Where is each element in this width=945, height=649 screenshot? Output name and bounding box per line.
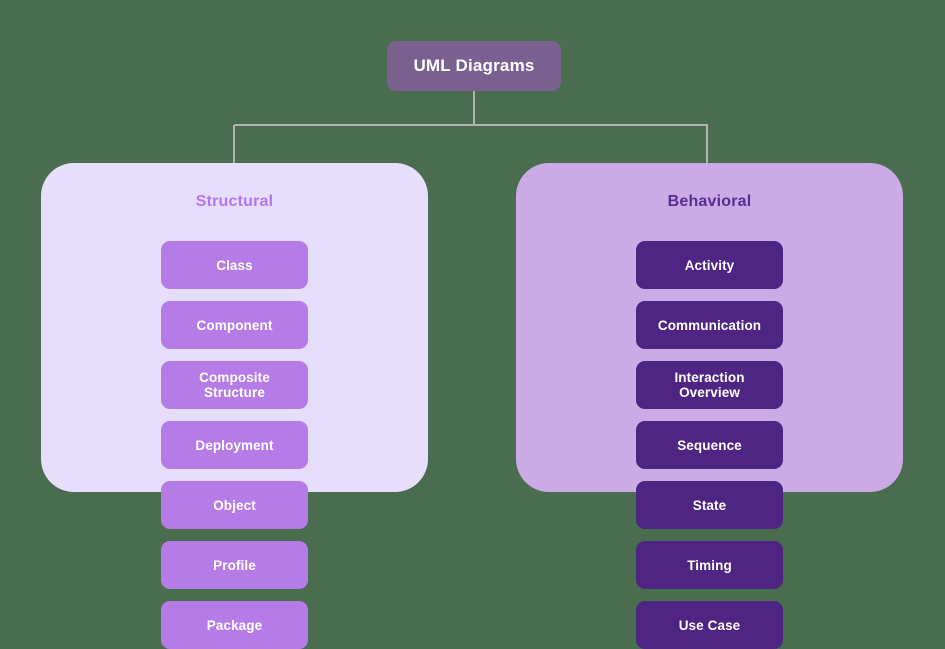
chip-label-composite-structure: Composite Structure bbox=[199, 370, 270, 400]
chip-label-use-case: Use Case bbox=[679, 618, 741, 633]
category-panel-structural[interactable]: Structural Class Component Composite Str… bbox=[41, 163, 428, 492]
chip-timing[interactable]: Timing bbox=[636, 541, 783, 589]
chip-label-interaction-overview: Interaction Overview bbox=[674, 370, 744, 400]
root-node-label: UML Diagrams bbox=[413, 56, 534, 76]
chip-label-class: Class bbox=[216, 258, 253, 273]
chip-state[interactable]: State bbox=[636, 481, 783, 529]
chip-label-timing: Timing bbox=[687, 558, 732, 573]
chip-label-deployment: Deployment bbox=[195, 438, 273, 453]
chip-composite-structure[interactable]: Composite Structure bbox=[161, 361, 308, 409]
root-node-uml-diagrams[interactable]: UML Diagrams bbox=[387, 41, 561, 91]
chip-label-state: State bbox=[693, 498, 727, 513]
chip-label-communication: Communication bbox=[658, 318, 761, 333]
chip-package[interactable]: Package bbox=[161, 601, 308, 649]
chip-label-package: Package bbox=[207, 618, 263, 633]
chip-label-line1: Composite bbox=[199, 370, 270, 385]
chip-grid-structural: Class Component Composite Structure Depl… bbox=[81, 241, 388, 649]
chip-label-component: Component bbox=[197, 318, 273, 333]
chip-label-line2: Overview bbox=[679, 385, 740, 400]
chip-profile[interactable]: Profile bbox=[161, 541, 308, 589]
chip-communication[interactable]: Communication bbox=[636, 301, 783, 349]
chip-class[interactable]: Class bbox=[161, 241, 308, 289]
category-panel-behavioral[interactable]: Behavioral Activity Communication Intera… bbox=[516, 163, 903, 492]
chip-interaction-overview[interactable]: Interaction Overview bbox=[636, 361, 783, 409]
chip-grid-behavioral: Activity Communication Interaction Overv… bbox=[556, 241, 863, 649]
chip-activity[interactable]: Activity bbox=[636, 241, 783, 289]
chip-label-object: Object bbox=[213, 498, 256, 513]
chip-label-profile: Profile bbox=[213, 558, 256, 573]
chip-label-line2: Structure bbox=[204, 385, 265, 400]
category-title-structural: Structural bbox=[41, 193, 428, 211]
diagram-canvas: UML Diagrams Structural Class Component … bbox=[0, 0, 945, 540]
chip-sequence[interactable]: Sequence bbox=[636, 421, 783, 469]
chip-deployment[interactable]: Deployment bbox=[161, 421, 308, 469]
category-title-behavioral: Behavioral bbox=[516, 193, 903, 211]
chip-object[interactable]: Object bbox=[161, 481, 308, 529]
chip-label-sequence: Sequence bbox=[677, 438, 742, 453]
chip-label-line1: Interaction bbox=[674, 370, 744, 385]
chip-label-activity: Activity bbox=[685, 258, 735, 273]
chip-component[interactable]: Component bbox=[161, 301, 308, 349]
chip-use-case[interactable]: Use Case bbox=[636, 601, 783, 649]
